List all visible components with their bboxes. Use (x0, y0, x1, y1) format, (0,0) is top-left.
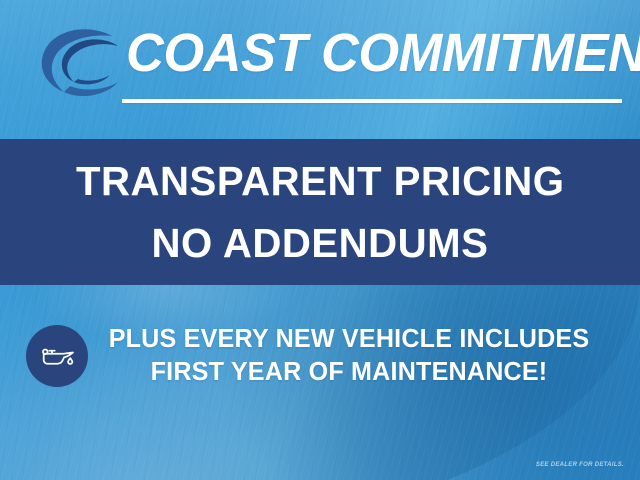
offer-line-1: PLUS EVERY NEW VEHICLE INCLUDES (108, 323, 591, 356)
pricing-line-2: NO ADDENDUMS (152, 212, 489, 274)
offer-content: PLUS EVERY NEW VEHICLE INCLUDES FIRST YE… (26, 323, 614, 389)
pricing-line-1: TRANSPARENT PRICING (76, 150, 565, 212)
coast-commitment-banner: COAST COMMITMENT TRANSPARENT PRICING NO … (0, 0, 640, 480)
disclaimer-text: SEE DEALER FOR DETAILS. (536, 462, 624, 468)
oil-can-icon (26, 325, 88, 387)
header-divider (122, 99, 622, 103)
pricing-band: TRANSPARENT PRICING NO ADDENDUMS (0, 139, 640, 285)
coast-wave-swirl-logo-icon (34, 22, 130, 104)
brand-title: COAST COMMITMENT (126, 21, 611, 85)
offer-line-2: FIRST YEAR OF MAINTENANCE! (108, 356, 591, 389)
banner-header: COAST COMMITMENT (0, 0, 640, 139)
offer-section: PLUS EVERY NEW VEHICLE INCLUDES FIRST YE… (0, 285, 640, 480)
offer-text: PLUS EVERY NEW VEHICLE INCLUDES FIRST YE… (104, 323, 614, 389)
